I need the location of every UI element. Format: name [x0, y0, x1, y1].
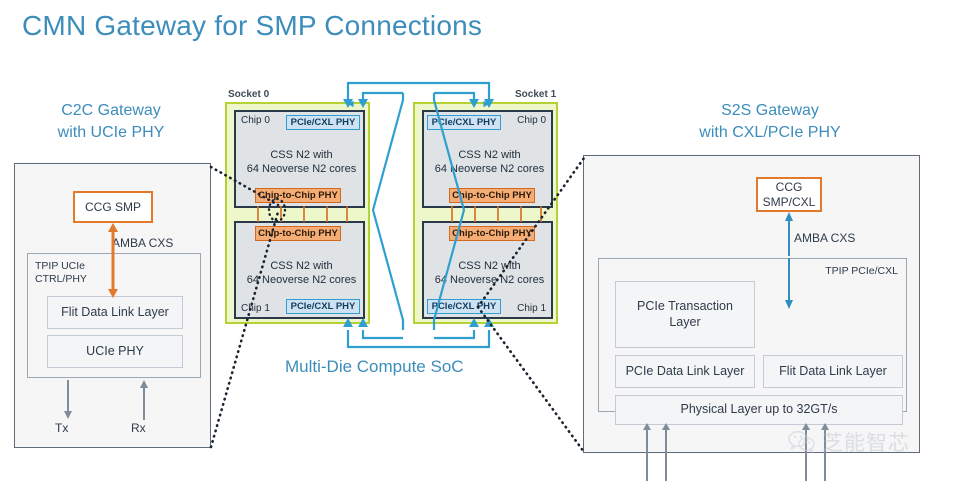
socket-1-label: Socket 1 [515, 89, 556, 100]
s2s-port-arrow-2 [660, 423, 672, 481]
amba-cxs-arrow-down-right [781, 258, 797, 310]
socket-0-chip-1-c2c-phy[interactable]: Chip-to-Chip PHY [255, 226, 341, 241]
right-panel-heading: S2S Gateway with CXL/PCIe PHY [650, 100, 890, 143]
amba-cxs-label-right: AMBA CXS [794, 231, 855, 245]
amba-cxs-arrow-down-left [105, 253, 121, 299]
socket-0-chip-0-pcie-cxl-phy[interactable]: PCIe/CXL PHY [286, 115, 360, 130]
socket-0-chip-1-label: Chip 1 [241, 303, 270, 314]
page-title: CMN Gateway for SMP Connections [22, 10, 482, 42]
physical-layer-box[interactable]: Physical Layer up to 32GT/s [615, 395, 903, 425]
rx-label: Rx [131, 421, 146, 435]
socket-0: Chip 0 PCIe/CXL PHY CSS N2 with 64 Neove… [225, 102, 370, 324]
socket-0-chip-0-body: CSS N2 with 64 Neoverse N2 cores [236, 148, 367, 177]
pcie-data-link-layer-box[interactable]: PCIe Data Link Layer [615, 355, 755, 388]
socket-1-chip-1-c2c-phy[interactable]: Chip-to-Chip PHY [449, 226, 535, 241]
s2s-gateway-panel: CCG SMP/CXL AMBA CXS TPIP PCIe/CXL PCIe … [583, 155, 920, 453]
tpip-ucie-label: TPIP UCIe CTRL/PHY [35, 260, 87, 286]
socket-1-chip-1: Chip-to-Chip PHY CSS N2 with 64 Neoverse… [422, 221, 553, 319]
c2c-gateway-panel: CCG SMP AMBA CXS TPIP UCIe CTRL/PHY Flit… [14, 163, 211, 448]
ccg-smp-cxl-box[interactable]: CCG SMP/CXL [756, 177, 822, 212]
ucie-phy-box[interactable]: UCIe PHY [47, 335, 183, 368]
flit-data-link-layer-box-right[interactable]: Flit Data Link Layer [763, 355, 903, 388]
socket-1-chip-0-pcie-cxl-phy[interactable]: PCIe/CXL PHY [427, 115, 501, 130]
socket-0-chip-1: Chip-to-Chip PHY CSS N2 with 64 Neoverse… [234, 221, 365, 319]
left-panel-heading-line2: with UCIe PHY [26, 122, 196, 144]
soc-caption: Multi-Die Compute SoC [285, 357, 464, 377]
right-panel-heading-line1: S2S Gateway [650, 100, 890, 122]
flit-data-link-layer-box[interactable]: Flit Data Link Layer [47, 296, 183, 329]
tx-arrow [61, 380, 75, 420]
watermark: 芝能智芯 [788, 427, 910, 457]
top-outer-link [348, 83, 489, 104]
socket-0-label: Socket 0 [228, 89, 269, 100]
socket-1-chip-0-c2c-phy[interactable]: Chip-to-Chip PHY [449, 188, 535, 203]
tpip-pcie-cxl-box: TPIP PCIe/CXL PCIe Transaction Layer PCI… [598, 258, 907, 412]
wechat-icon [788, 430, 816, 454]
watermark-text: 芝能智芯 [822, 427, 910, 457]
socket-1-chip-1-pcie-cxl-phy[interactable]: PCIe/CXL PHY [427, 299, 501, 314]
socket-0-chip-1-body: CSS N2 with 64 Neoverse N2 cores [236, 259, 367, 288]
left-panel-heading-line1: C2C Gateway [26, 100, 196, 122]
socket-0-chip-0-c2c-phy[interactable]: Chip-to-Chip PHY [255, 188, 341, 203]
tx-label: Tx [55, 421, 68, 435]
socket-0-chip-0-label: Chip 0 [241, 115, 270, 126]
socket-0-chip-0: Chip 0 PCIe/CXL PHY CSS N2 with 64 Neove… [234, 110, 365, 208]
socket-1-chip-1-label: Chip 1 [517, 303, 546, 314]
s2s-port-arrow-1 [641, 423, 653, 481]
socket-1: Chip 0 PCIe/CXL PHY CSS N2 with 64 Neove… [413, 102, 558, 324]
slide-root: CMN Gateway for SMP Connections C2C Gate… [0, 0, 960, 492]
amba-cxs-label-left: AMBA CXS [112, 236, 173, 250]
ccg-smp-box[interactable]: CCG SMP [73, 191, 153, 223]
socket-1-chip-1-body: CSS N2 with 64 Neoverse N2 cores [424, 259, 555, 288]
socket-1-chip-0-body: CSS N2 with 64 Neoverse N2 cores [424, 148, 555, 177]
socket-1-chip-0: Chip 0 PCIe/CXL PHY CSS N2 with 64 Neove… [422, 110, 553, 208]
ccg-smp-cxl-label: CCG SMP/CXL [763, 180, 816, 209]
pcie-transaction-layer-box[interactable]: PCIe Transaction Layer [615, 281, 755, 348]
rx-arrow [137, 380, 151, 420]
bottom-outer-link [348, 330, 489, 347]
left-panel-heading: C2C Gateway with UCIe PHY [26, 100, 196, 143]
socket-0-chip-1-pcie-cxl-phy[interactable]: PCIe/CXL PHY [286, 299, 360, 314]
right-panel-heading-line2: with CXL/PCIe PHY [650, 122, 890, 144]
amba-cxs-arrow-up-right [781, 212, 797, 256]
socket-1-chip-0-label: Chip 0 [517, 115, 546, 126]
tpip-pcie-cxl-label: TPIP PCIe/CXL [825, 265, 898, 278]
